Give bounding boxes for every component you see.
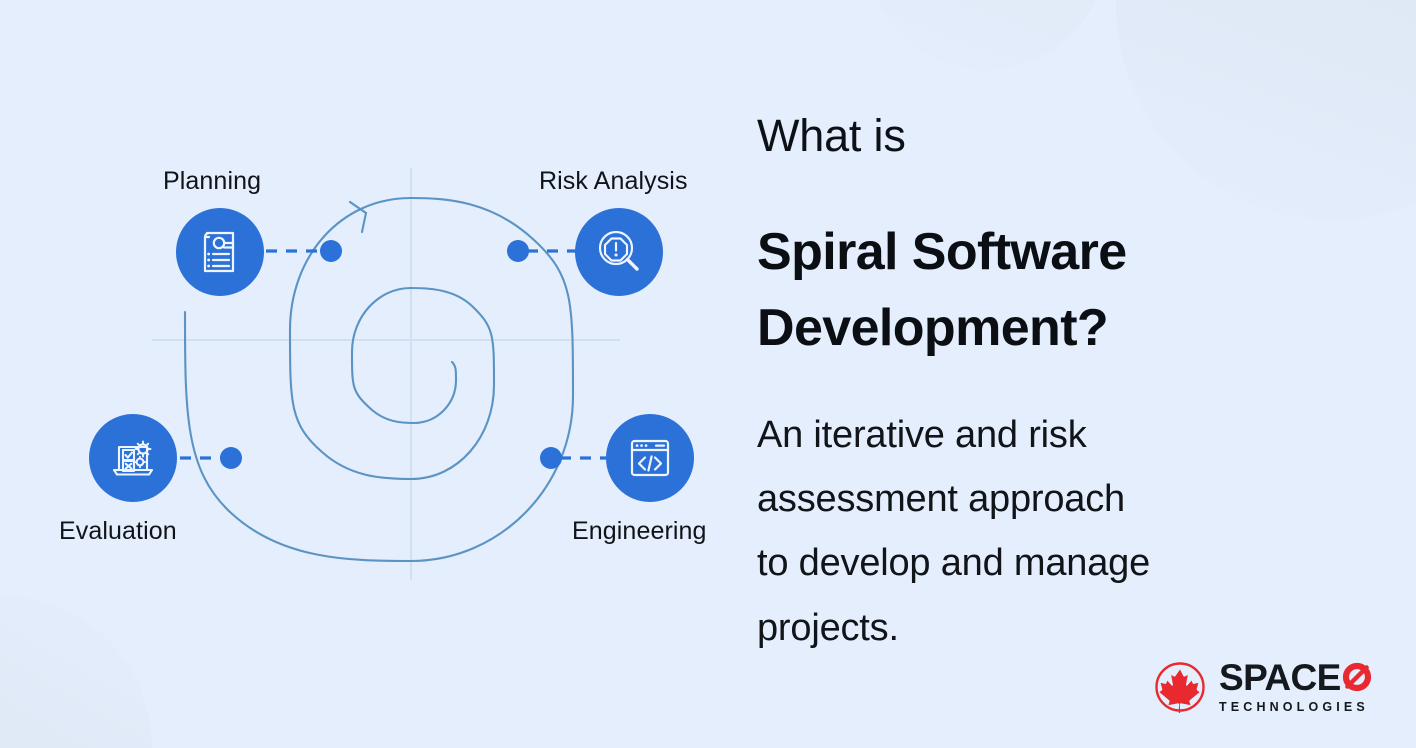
icon-badge-risk-analysis[interactable] [575, 208, 663, 296]
icon-badge-planning[interactable] [176, 208, 264, 296]
laptop-gears-checkbox-icon [106, 431, 160, 485]
maple-leaf-in-circle-icon [1154, 661, 1206, 713]
logo-wordmark: SPACE TECHNOLOGIES [1219, 660, 1372, 714]
logo-tagline: TECHNOLOGIES [1219, 700, 1372, 714]
eyebrow-text: What is [757, 113, 906, 158]
node-label-planning: Planning [163, 167, 261, 196]
node-label-evaluation: Evaluation [59, 517, 177, 546]
infographic-canvas: Planning Risk Analysis Evaluation Engine… [0, 0, 1416, 748]
node-dot-planning[interactable] [320, 240, 342, 262]
description-text: An iterative and risk assessment approac… [757, 403, 1357, 660]
browser-code-icon [623, 431, 677, 485]
node-label-engineering: Engineering [572, 517, 707, 546]
brand-logo[interactable]: SPACE TECHNOLOGIES [1154, 660, 1372, 714]
node-dots [220, 240, 562, 469]
icon-badge-evaluation[interactable] [89, 414, 177, 502]
body-line-3: to develop and manage [757, 542, 1150, 584]
node-dot-risk[interactable] [507, 240, 529, 262]
slashed-o-glyph [1342, 662, 1372, 692]
document-checklist-icon [193, 225, 247, 279]
body-line-2: assessment approach [757, 478, 1125, 520]
page-title: Spiral Software Development? [757, 215, 1317, 367]
logo-word-space: SPACE [1219, 661, 1341, 695]
logo-slashed-o-icon [1342, 662, 1372, 692]
node-label-risk: Risk Analysis [539, 167, 688, 196]
spiral-graphic [0, 0, 740, 748]
icon-badge-engineering[interactable] [606, 414, 694, 502]
node-dot-evaluation[interactable] [220, 447, 242, 469]
headline-line-2: Development? [757, 299, 1108, 357]
body-line-1: An iterative and risk [757, 414, 1087, 456]
headline-line-1: Spiral Software [757, 223, 1127, 281]
body-line-4: projects. [757, 607, 899, 649]
node-dot-engineering[interactable] [540, 447, 562, 469]
spiral-diagram: Planning Risk Analysis Evaluation Engine… [0, 0, 740, 748]
magnifier-warning-icon [592, 225, 646, 279]
text-column: What is Spiral Software Development? An … [757, 0, 1377, 748]
